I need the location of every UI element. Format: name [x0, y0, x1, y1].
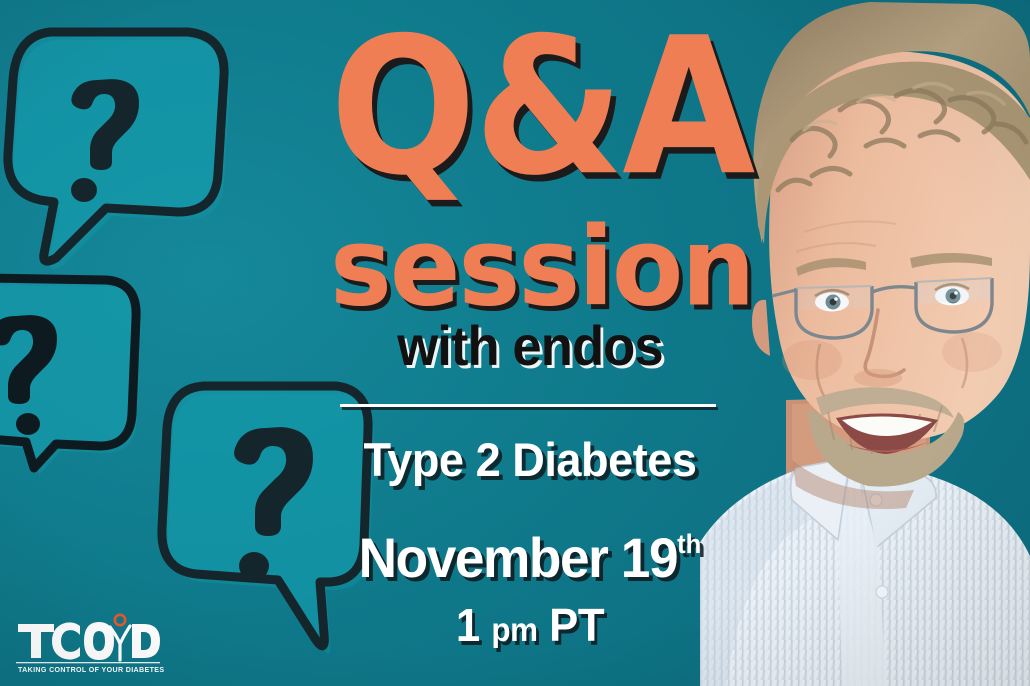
tcoyd-wordmark — [18, 622, 160, 660]
page-title: Q&A — [330, 16, 730, 198]
event-date: November 19th — [340, 530, 720, 586]
event-time-hour: 1 — [456, 599, 480, 651]
event-time: 1 pm PT — [340, 602, 720, 648]
subtitle: session — [330, 212, 730, 321]
tcoyd-logo: TAKING CONTROL OF YOUR DIABETES® — [14, 612, 164, 674]
speech-bubble-2 — [0, 272, 168, 487]
event-date-ordinal: th — [677, 529, 701, 559]
speech-bubble-1 — [2, 22, 252, 292]
event-time-meridiem: pm — [491, 611, 537, 648]
tcoyd-tagline: TAKING CONTROL OF YOUR DIABETES® — [18, 665, 164, 674]
tagline-text: TAKING CONTROL OF YOUR DIABETES — [18, 666, 164, 674]
event-date-main: November 19 — [359, 526, 677, 589]
topic-label: Type 2 Diabetes — [338, 436, 722, 483]
headline-block: Q&A session with endos Type 2 Diabetes N… — [330, 0, 730, 686]
divider — [340, 404, 716, 412]
with-endos-label: with endos — [342, 318, 718, 374]
event-time-zone: PT — [549, 599, 604, 651]
promo-banner: Q&A session with endos Type 2 Diabetes N… — [0, 0, 1030, 686]
logo-rule — [16, 662, 160, 663]
divider-line — [340, 404, 716, 407]
person-head-icon — [115, 615, 125, 625]
